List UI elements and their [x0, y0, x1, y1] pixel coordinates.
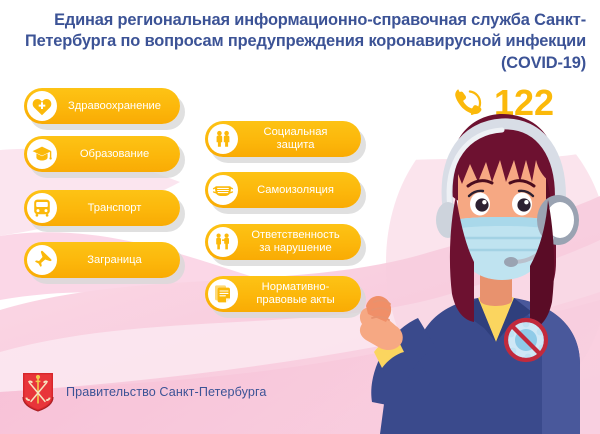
- category-button-self-isolation[interactable]: Самоизоляция: [205, 172, 361, 208]
- saint-petersburg-coat-of-arms: [22, 372, 54, 412]
- category-label: Заграница: [61, 254, 170, 267]
- category-button-social-protection[interactable]: Социальная защита: [205, 121, 361, 157]
- footer: Правительство Санкт-Петербурга: [22, 372, 267, 412]
- category-label: Социальная защита: [242, 126, 351, 151]
- category-label: Ответственность за нарушение: [242, 229, 351, 254]
- graduation-cap-icon: [27, 139, 57, 169]
- airplane-icon: [27, 245, 57, 275]
- face-mask-icon: [208, 175, 238, 205]
- category-label: Образование: [61, 148, 170, 161]
- category-label: Нормативно- правовые акты: [242, 281, 351, 306]
- bus-icon: [27, 193, 57, 223]
- operator-figure: [356, 112, 600, 434]
- poster-root: Единая региональная информационно-справо…: [0, 0, 600, 434]
- category-label: Здравоохранение: [61, 100, 170, 113]
- category-button-transport[interactable]: Транспорт: [24, 190, 180, 226]
- category-button-abroad[interactable]: Заграница: [24, 242, 180, 278]
- category-button-healthcare[interactable]: Здравоохранение: [24, 88, 180, 124]
- category-button-legal-acts[interactable]: Нормативно- правовые акты: [205, 276, 361, 312]
- category-button-education[interactable]: Образование: [24, 136, 180, 172]
- page-title: Единая региональная информационно-справо…: [14, 10, 586, 74]
- heart-plus-icon: [27, 91, 57, 121]
- people-warning-icon: [208, 227, 238, 257]
- documents-icon: [208, 279, 238, 309]
- call-center-operator-illustration: [356, 112, 600, 434]
- category-label: Самоизоляция: [242, 184, 351, 197]
- category-button-responsibility[interactable]: Ответственность за нарушение: [205, 224, 361, 260]
- category-label: Транспорт: [61, 202, 170, 215]
- family-icon: [208, 124, 238, 154]
- footer-label: Правительство Санкт-Петербурга: [66, 385, 267, 399]
